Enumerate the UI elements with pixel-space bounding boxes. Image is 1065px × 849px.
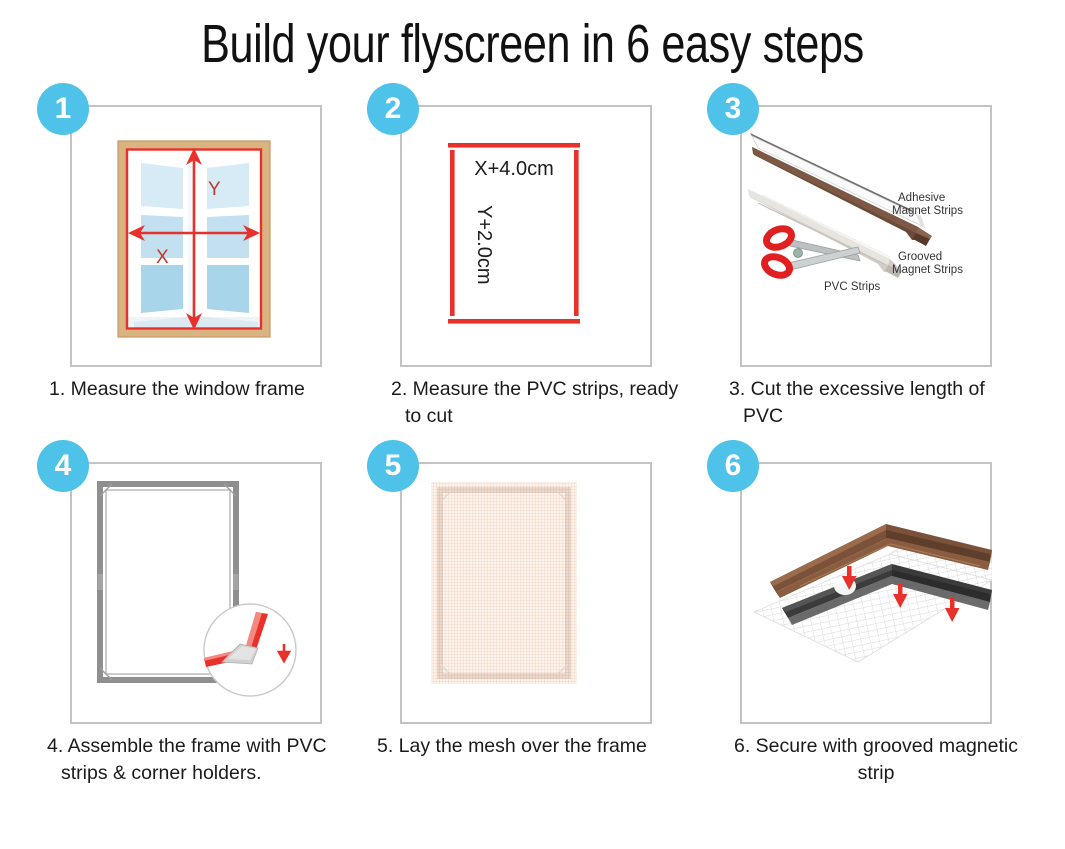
- step-badge-1: 1: [37, 83, 89, 135]
- step-caption-2: 2. Measure the PVC strips, ready to cut: [357, 376, 697, 430]
- step-caption-4: 4. Assemble the frame with PVC strips & …: [27, 733, 367, 787]
- step-badge-5: 5: [367, 440, 419, 492]
- step-2-illustration-panel: X+4.0cm Y+2.0cm 2: [400, 105, 652, 367]
- step-badge-3: 3: [707, 83, 759, 135]
- step-badge-2: 2: [367, 83, 419, 135]
- strip-bottom: [448, 319, 580, 324]
- label-adhesive-line1: Adhesive: [898, 192, 945, 204]
- label-pvc: PVC Strips: [824, 281, 880, 293]
- step-5-illustration-panel: 5: [400, 462, 652, 724]
- strips-and-scissors-illustration: Adhesive Magnet Strips Grooved Magnet St…: [740, 105, 992, 367]
- assembled-frame-illustration: [70, 462, 322, 724]
- page-title: Build your flyscreen in 6 easy steps: [107, 12, 959, 76]
- step-card-2: X+4.0cm Y+2.0cm 2 2. Measure the PVC str…: [357, 105, 697, 430]
- label-x: X: [156, 247, 169, 268]
- magnetic-strip-secure-illustration: [740, 462, 992, 724]
- mesh-sheet: [431, 482, 577, 684]
- step-card-1: Y X 1 1. Measure the window frame: [27, 105, 367, 403]
- step-caption-3: 3. Cut the excessive length of PVC: [697, 376, 1037, 430]
- label-height: Y+2.0cm: [473, 205, 495, 284]
- pvc-strip-rectangle-illustration: X+4.0cm Y+2.0cm: [400, 105, 652, 367]
- step-4-illustration-panel: 4: [70, 462, 322, 724]
- step-badge-6: 6: [707, 440, 759, 492]
- step-3-illustration-panel: Adhesive Magnet Strips Grooved Magnet St…: [740, 105, 992, 367]
- step-card-3: Adhesive Magnet Strips Grooved Magnet St…: [697, 105, 1037, 430]
- step-caption-5: 5. Lay the mesh over the frame: [357, 733, 697, 760]
- mesh-over-frame-illustration: [400, 462, 652, 724]
- strip-top: [448, 143, 580, 148]
- step-caption-1: 1. Measure the window frame: [27, 376, 367, 403]
- strip-left: [450, 150, 455, 316]
- label-width: X+4.0cm: [474, 158, 553, 180]
- step-1-illustration-panel: Y X 1: [70, 105, 322, 367]
- label-grooved-line1: Grooved: [898, 251, 942, 263]
- label-grooved-line2: Magnet Strips: [892, 264, 963, 276]
- step-badge-4: 4: [37, 440, 89, 492]
- step-card-5: 5 5. Lay the mesh over the frame: [357, 462, 697, 760]
- step-card-4: 4 4. Assemble the frame with PVC strips …: [27, 462, 367, 787]
- step-caption-6: 6. Secure with grooved magnetic strip: [697, 733, 1037, 787]
- step-card-6: 6 6. Secure with grooved magnetic strip: [697, 462, 1037, 787]
- label-y: Y: [208, 179, 221, 200]
- corner-holder-callout: [204, 604, 296, 696]
- window-frame-measure-illustration: Y X: [70, 105, 322, 367]
- scissors-icon: [762, 225, 860, 279]
- strip-right: [574, 150, 579, 316]
- step-6-illustration-panel: 6: [740, 462, 992, 724]
- label-adhesive-line2: Magnet Strips: [892, 205, 963, 217]
